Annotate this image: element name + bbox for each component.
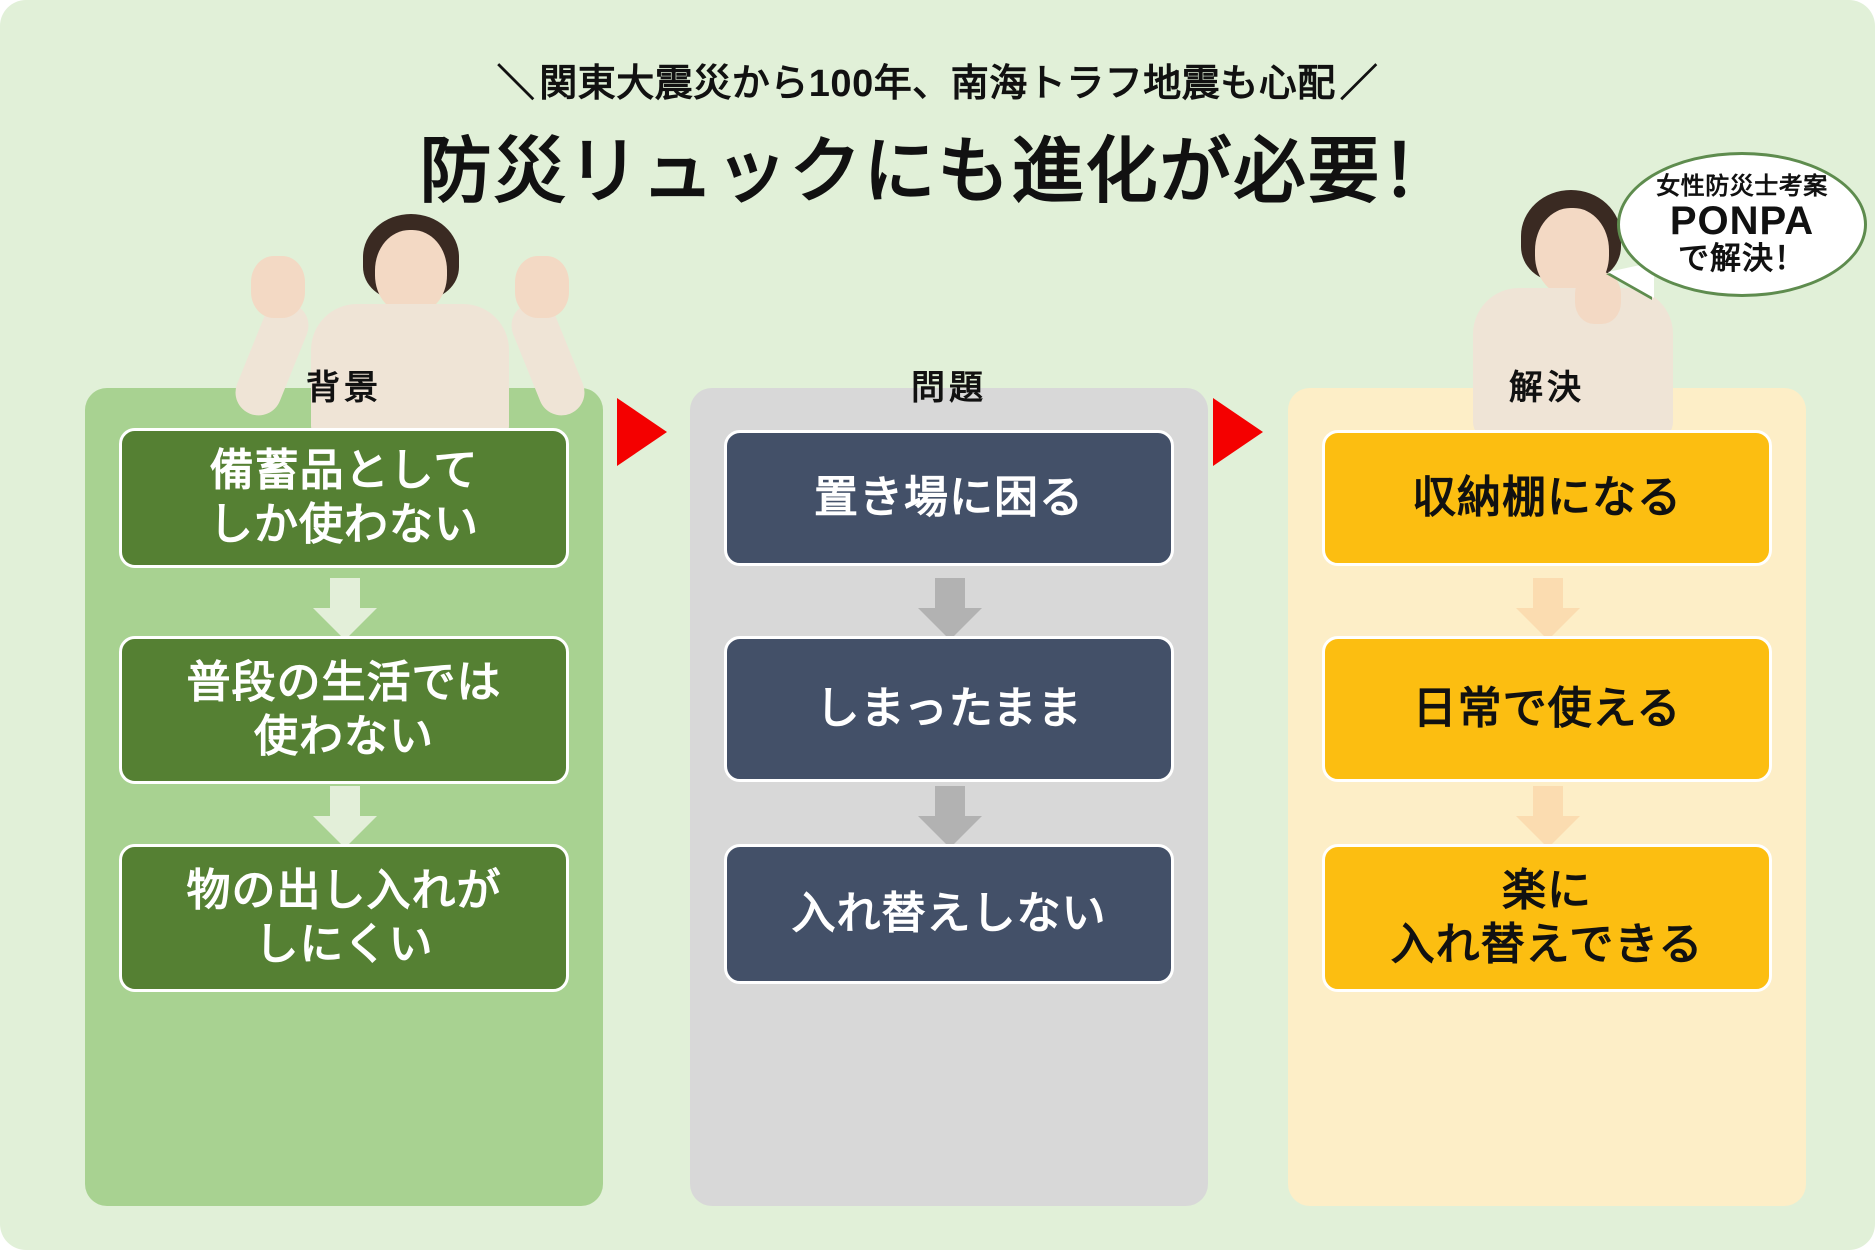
arrow-shaft	[330, 786, 360, 820]
bubble-line-2: PONPA	[1670, 200, 1814, 242]
arrow-shaft	[935, 578, 965, 612]
column-label-solution: 解決	[1288, 360, 1806, 409]
person-hair	[363, 214, 459, 300]
flow-box-gray-1: 置き場に困る	[724, 430, 1174, 566]
arrow-shaft	[330, 578, 360, 612]
flow-box-green-2: 普段の生活では 使わない	[119, 636, 569, 784]
column-background: 背景 備蓄品として しか使わない 普段の生活では 使わない	[85, 388, 603, 1206]
flow-box-line: 入れ替えしない	[792, 887, 1107, 941]
red-triangle-icon-2	[1213, 398, 1263, 466]
column-solution: 解決 収納棚になる 日常で使える 楽に 入れ替えできる	[1288, 388, 1806, 1206]
arrow-shaft	[1533, 578, 1563, 612]
column-label-problem: 問題	[690, 360, 1208, 409]
flow-box-yellow-3: 楽に 入れ替えできる	[1322, 844, 1772, 992]
bubble-line-3: で解決！	[1678, 243, 1806, 276]
down-arrow-icon-gray-2	[918, 786, 982, 848]
flow-box-line: 楽に	[1391, 864, 1704, 918]
flow-box-yellow-1: 収納棚になる	[1322, 430, 1772, 566]
arrow-shaft	[1533, 786, 1563, 820]
arrow-shaft	[935, 786, 965, 820]
flow-box-line: 物の出し入れが	[187, 864, 502, 918]
flow-box-gray-3: 入れ替えしない	[724, 844, 1174, 984]
flow-box-line: しまったまま	[816, 682, 1083, 736]
person-hand-right	[515, 256, 569, 318]
columns-container: 背景 備蓄品として しか使わない 普段の生活では 使わない	[0, 388, 1875, 1206]
flow-box-green-3: 物の出し入れが しにくい	[119, 844, 569, 992]
flow-box-line: しか使わない	[209, 498, 479, 552]
red-triangle-icon-1	[617, 398, 667, 466]
person-head	[1535, 208, 1609, 296]
flow-box-gray-2: しまったまま	[724, 636, 1174, 782]
speech-bubble: 女性防災士考案 PONPA で解決！	[1617, 152, 1867, 297]
flow-box-line: 普段の生活では	[187, 656, 502, 710]
kicker-slash-right: ／	[1340, 52, 1379, 107]
kicker-label: 関東大震災から100年、南海トラフ地震も心配	[539, 63, 1335, 105]
down-arrow-icon-yellow-2	[1516, 786, 1580, 848]
flow-box-line: 置き場に困る	[814, 471, 1084, 525]
down-arrow-icon-yellow-1	[1516, 578, 1580, 640]
column-problem: 問題 置き場に困る しまったまま 入れ替えしない	[690, 388, 1208, 1206]
bubble-line-1: 女性防災士考案	[1656, 174, 1828, 199]
down-arrow-icon-gray-1	[918, 578, 982, 640]
page-title: 防災リュックにも進化が必要！	[0, 112, 1875, 217]
flow-box-green-1: 備蓄品として しか使わない	[119, 428, 569, 568]
flow-box-yellow-2: 日常で使える	[1322, 636, 1772, 782]
down-arrow-icon-green-1	[313, 578, 377, 640]
person-head	[375, 230, 447, 314]
flow-box-line: 使わない	[187, 710, 502, 764]
kicker-slash-left: ＼	[497, 52, 536, 107]
infographic-canvas: ＼関東大震災から100年、南海トラフ地震も心配／ 防災リュックにも進化が必要！ …	[0, 0, 1875, 1250]
flow-box-line: 日常で使える	[1413, 682, 1682, 736]
down-arrow-icon-green-2	[313, 786, 377, 848]
kicker-text: ＼関東大震災から100年、南海トラフ地震も心配／	[0, 52, 1875, 107]
flow-box-line: 入れ替えできる	[1391, 918, 1704, 972]
flow-box-line: 収納棚になる	[1412, 471, 1682, 525]
flow-box-line: しにくい	[187, 918, 502, 972]
person-hand-left	[251, 256, 305, 318]
flow-box-line: 備蓄品として	[209, 444, 479, 498]
column-label-background: 背景	[85, 360, 603, 409]
